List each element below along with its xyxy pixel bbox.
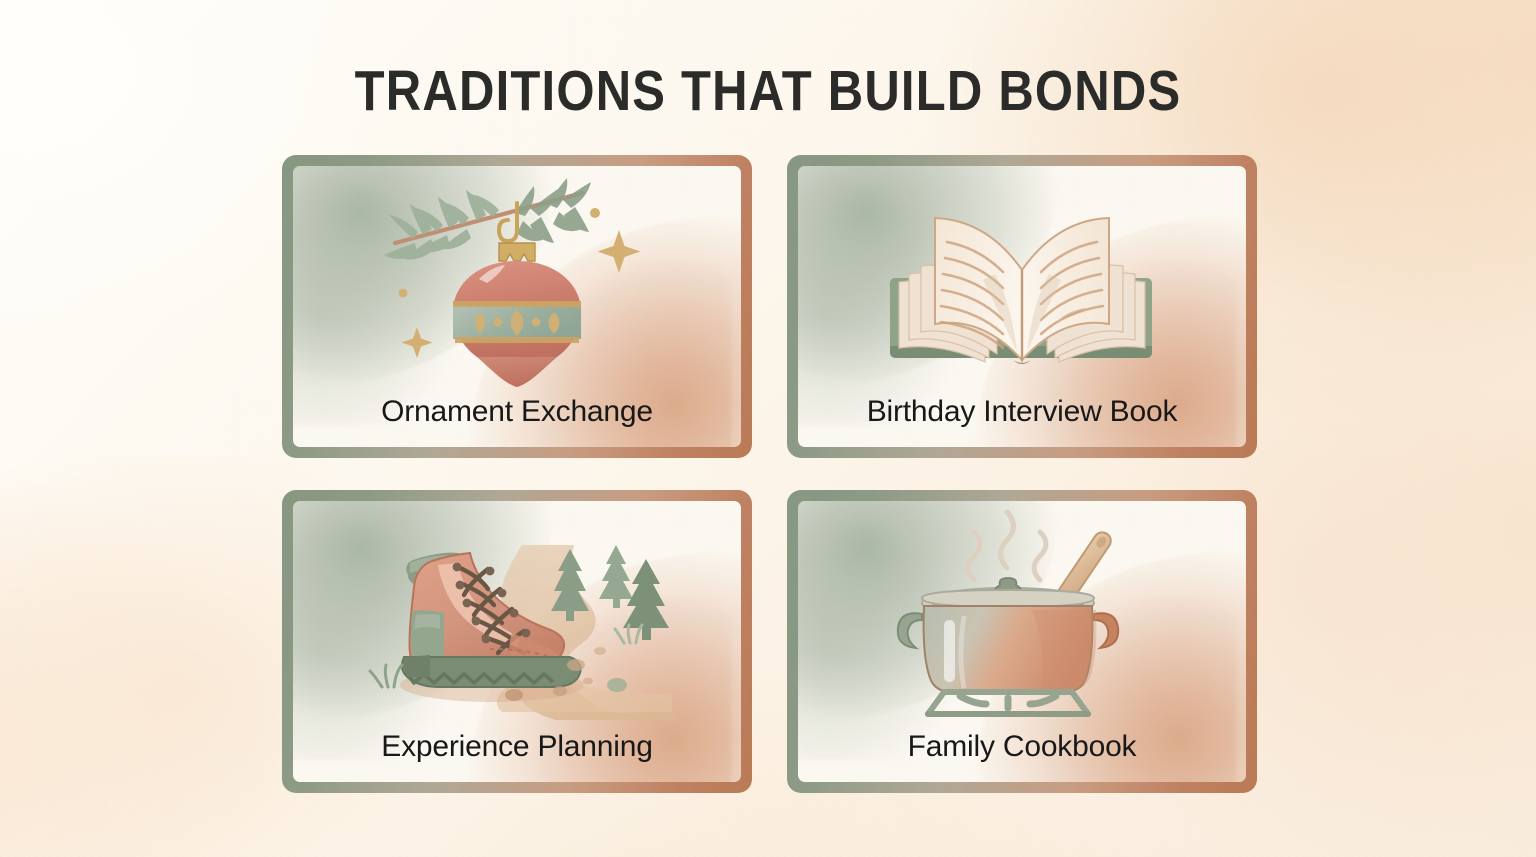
card-surface: Birthday Interview Book (798, 166, 1246, 447)
card-family-cookbook[interactable]: Family Cookbook (787, 490, 1257, 793)
sage-wash-secondary (293, 511, 463, 761)
card-ornament-exchange[interactable]: Ornament Exchange (282, 155, 752, 458)
card-label: Ornament Exchange (293, 395, 741, 429)
card-birthday-interview-book[interactable]: Birthday Interview Book (787, 155, 1257, 458)
card-surface: Family Cookbook (798, 501, 1246, 782)
sage-wash-secondary (798, 511, 968, 761)
card-label: Birthday Interview Book (798, 395, 1246, 429)
traditions-card-grid: Ornament Exchange (282, 155, 1257, 793)
sage-wash-secondary (293, 176, 463, 426)
page-title: TRADITIONS THAT BUILD BONDS (108, 58, 1429, 124)
card-experience-planning[interactable]: Experience Planning (282, 490, 752, 793)
sage-wash-secondary (798, 176, 968, 426)
card-surface: Experience Planning (293, 501, 741, 782)
card-surface: Ornament Exchange (293, 166, 741, 447)
card-label: Family Cookbook (798, 730, 1246, 764)
card-label: Experience Planning (293, 730, 741, 764)
slide-canvas: TRADITIONS THAT BUILD BONDS (0, 0, 1536, 857)
